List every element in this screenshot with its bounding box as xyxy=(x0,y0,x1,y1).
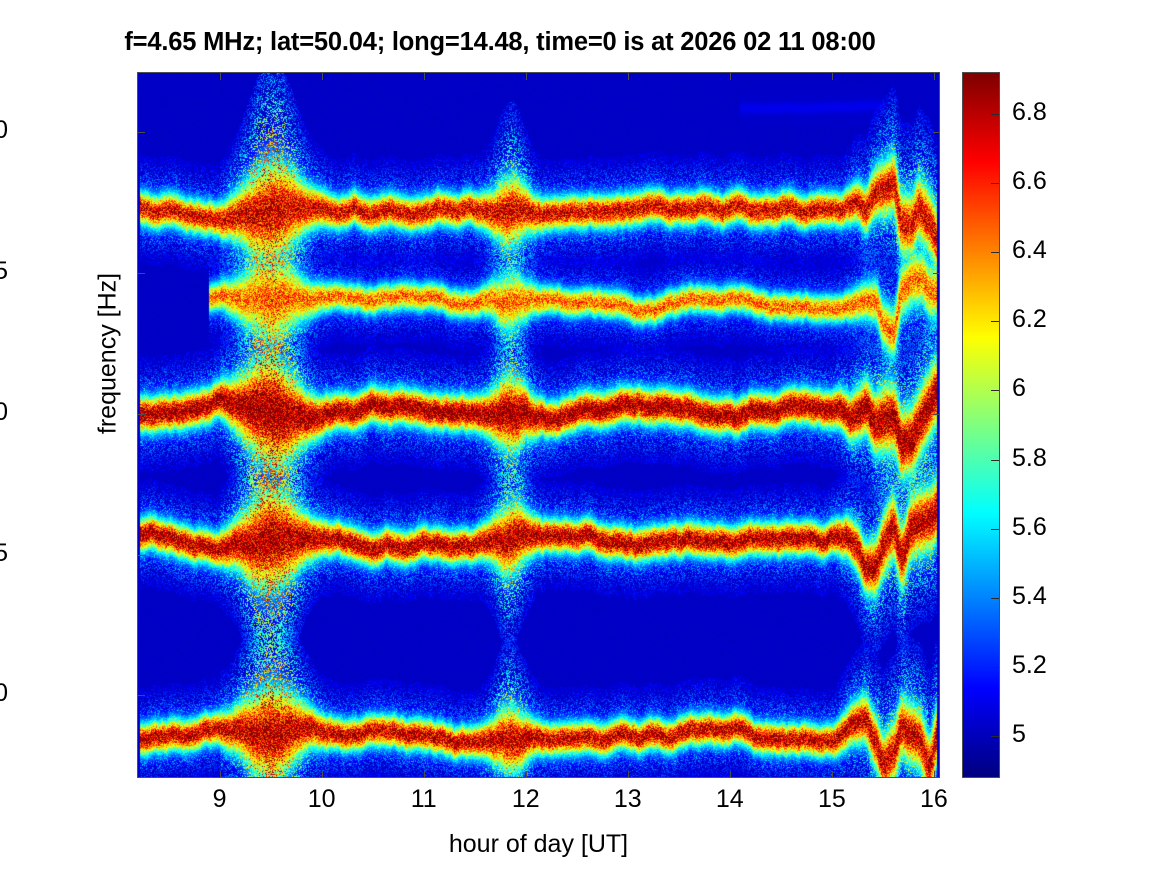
colorbar-tick-label: 5.6 xyxy=(1012,515,1112,540)
colorbar-tick-mark xyxy=(991,667,999,668)
colorbar-gradient xyxy=(963,73,999,777)
x-tick-mark xyxy=(730,73,731,80)
y-tick-mark xyxy=(933,132,940,133)
x-tick-mark xyxy=(424,73,425,80)
figure-title: f=4.65 MHz; lat=50.04; long=14.48, time=… xyxy=(0,28,1000,57)
y-tick-mark xyxy=(138,273,145,274)
colorbar-tick-label: 6.4 xyxy=(1012,238,1112,263)
colorbar-tick-mark xyxy=(991,598,999,599)
y-tick-mark xyxy=(933,273,940,274)
colorbar-tick-mark xyxy=(991,460,999,461)
x-tick-label: 14 xyxy=(690,787,770,812)
y-tick-mark xyxy=(138,555,145,556)
y-tick-mark xyxy=(138,414,145,415)
x-tick-label: 16 xyxy=(894,787,974,812)
colorbar-tick-label: 5 xyxy=(1012,722,1112,747)
colorbar-tick-mark xyxy=(991,252,999,253)
y-tick-label: 0 xyxy=(0,400,8,425)
spectrogram-image xyxy=(138,73,939,777)
y-tick-mark xyxy=(933,695,940,696)
y-tick-mark xyxy=(933,555,940,556)
colorbar-tick-mark xyxy=(991,736,999,737)
colorbar-tick-label: 5.4 xyxy=(1012,584,1112,609)
colorbar-tick-mark xyxy=(991,183,999,184)
colorbar-tick-mark xyxy=(991,321,999,322)
x-tick-label: 13 xyxy=(588,787,668,812)
colorbar[interactable] xyxy=(962,72,1000,778)
y-tick-label: -5 xyxy=(0,541,8,566)
colorbar-tick-label: 5.2 xyxy=(1012,653,1112,678)
y-tick-label: 5 xyxy=(0,259,8,284)
y-tick-mark xyxy=(138,132,145,133)
x-tick-label: 10 xyxy=(282,787,362,812)
x-tick-mark xyxy=(220,73,221,80)
colorbar-tick-label: 6 xyxy=(1012,376,1112,401)
x-tick-mark xyxy=(526,771,527,778)
x-tick-mark xyxy=(832,771,833,778)
colorbar-tick-mark xyxy=(991,390,999,391)
x-tick-mark xyxy=(322,771,323,778)
x-tick-label: 15 xyxy=(792,787,872,812)
x-axis-label: hour of day [UT] xyxy=(137,830,940,859)
x-tick-mark xyxy=(832,73,833,80)
x-tick-mark xyxy=(934,73,935,80)
x-tick-label: 12 xyxy=(486,787,566,812)
x-tick-mark xyxy=(424,771,425,778)
x-tick-mark xyxy=(220,771,221,778)
y-axis-label: frequency [Hz] xyxy=(94,204,123,504)
x-tick-label: 9 xyxy=(180,787,260,812)
x-tick-mark xyxy=(934,771,935,778)
x-tick-label: 11 xyxy=(384,787,464,812)
x-tick-mark xyxy=(322,73,323,80)
colorbar-tick-mark xyxy=(991,529,999,530)
colorbar-tick-mark xyxy=(991,114,999,115)
x-tick-mark xyxy=(526,73,527,80)
x-tick-mark xyxy=(628,771,629,778)
colorbar-tick-label: 6.8 xyxy=(1012,100,1112,125)
y-tick-mark xyxy=(138,695,145,696)
x-tick-mark xyxy=(730,771,731,778)
x-tick-mark xyxy=(628,73,629,80)
y-tick-label: -10 xyxy=(0,681,8,706)
y-tick-mark xyxy=(933,414,940,415)
colorbar-tick-label: 5.8 xyxy=(1012,446,1112,471)
colorbar-tick-label: 6.6 xyxy=(1012,169,1112,194)
y-tick-label: 10 xyxy=(0,118,8,143)
spectrogram-figure: f=4.65 MHz; lat=50.04; long=14.48, time=… xyxy=(0,0,1167,875)
colorbar-tick-label: 6.2 xyxy=(1012,307,1112,332)
plot-area[interactable] xyxy=(137,72,940,778)
